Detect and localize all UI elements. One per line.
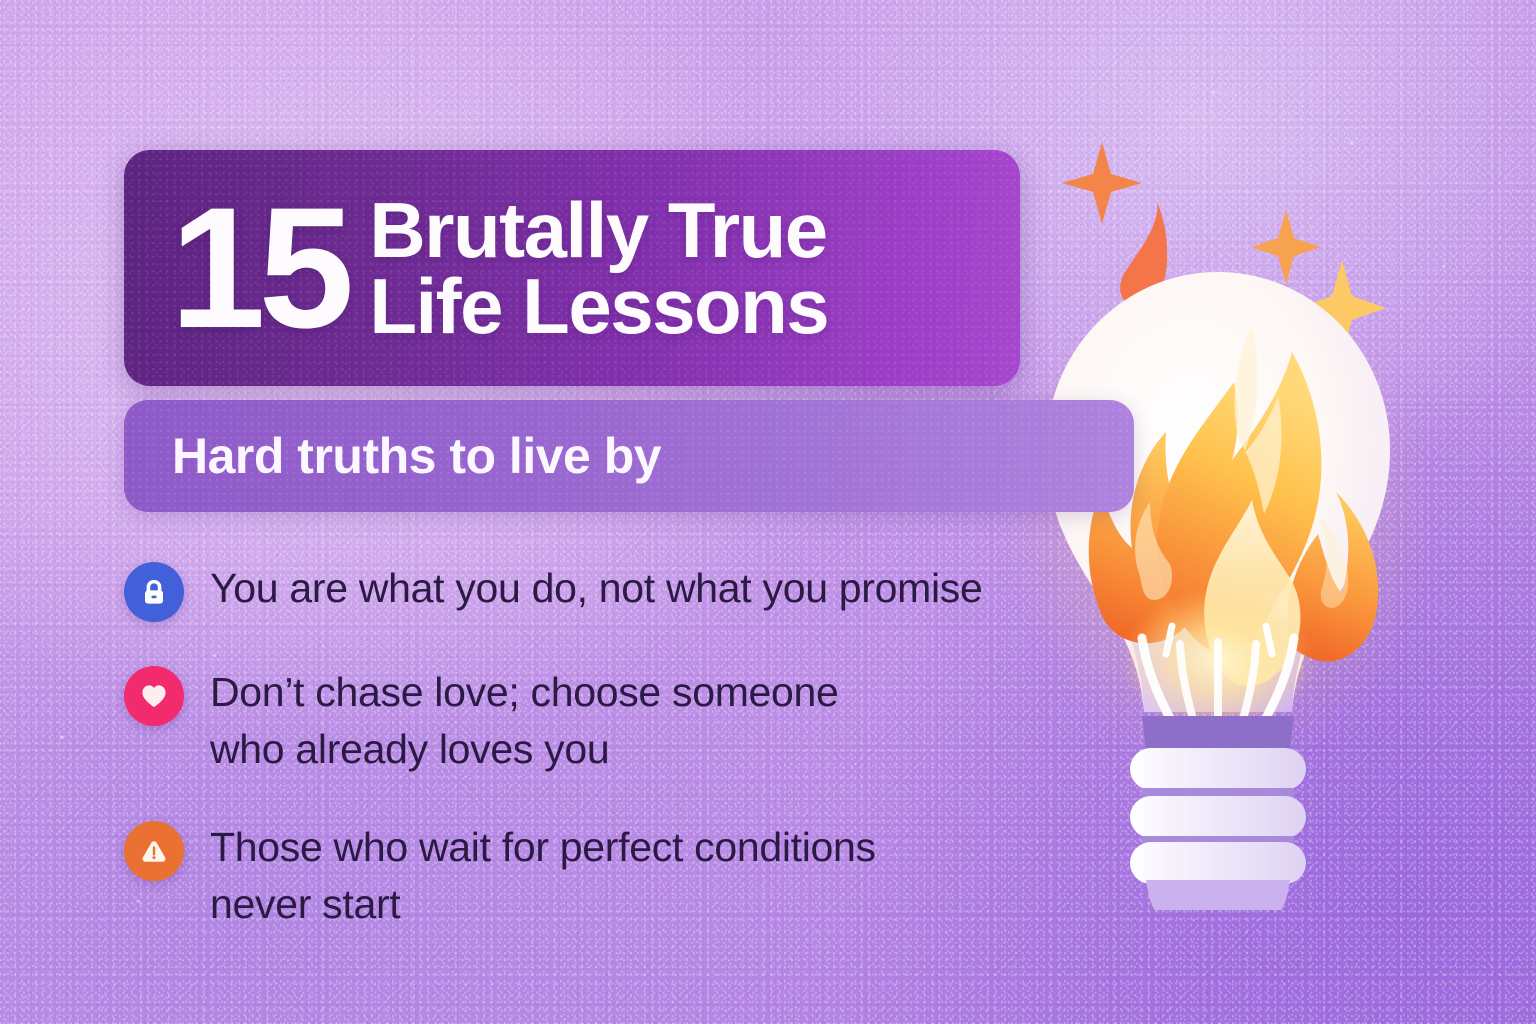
sparkle-icon — [1251, 210, 1321, 284]
bulb-base-ridge — [1130, 796, 1306, 838]
lesson-item: You are what you do, not what you promis… — [124, 560, 1084, 622]
lesson-line-1: Those who wait for perfect conditions — [210, 824, 876, 870]
subtitle-text: Hard truths to live by — [172, 427, 661, 485]
lesson-line-2: who already loves you — [210, 721, 839, 778]
lesson-list: You are what you do, not what you promis… — [124, 560, 1084, 974]
bulb-base-ridge — [1130, 748, 1306, 790]
warning-icon-badge — [124, 821, 184, 881]
title-banner: 15 Brutally True Life Lessons — [124, 150, 1020, 386]
lesson-text: You are what you do, not what you promis… — [210, 560, 983, 617]
title-line-2: Life Lessons — [369, 268, 828, 344]
title-line-1: Brutally True — [369, 192, 828, 268]
lesson-line-2: never start — [210, 876, 876, 933]
warning-icon — [138, 835, 170, 867]
bulb-base-shoulder — [1146, 880, 1290, 910]
lesson-text: Don’t chase love; choose someone who alr… — [210, 664, 839, 777]
sparkle-icon — [1062, 142, 1142, 224]
lesson-item: Don’t chase love; choose someone who alr… — [124, 664, 1084, 777]
lesson-line-1: You are what you do, not what you promis… — [210, 565, 983, 611]
heart-icon-badge — [124, 666, 184, 726]
lesson-count-number: 15 — [170, 196, 347, 340]
title-text-block: Brutally True Life Lessons — [369, 192, 828, 345]
lesson-text: Those who wait for perfect conditions ne… — [210, 819, 876, 932]
poster-canvas: 15 Brutally True Life Lessons Hard truth… — [0, 0, 1536, 1024]
lesson-line-1: Don’t chase love; choose someone — [210, 669, 839, 715]
lock-icon-badge — [124, 562, 184, 622]
heart-icon — [138, 680, 170, 712]
subtitle-bar: Hard truths to live by — [124, 400, 1134, 512]
bulb-neck — [1142, 716, 1294, 750]
bulb-base-ridge — [1130, 842, 1306, 884]
lesson-item: Those who wait for perfect conditions ne… — [124, 819, 1084, 932]
lock-icon — [138, 576, 170, 608]
